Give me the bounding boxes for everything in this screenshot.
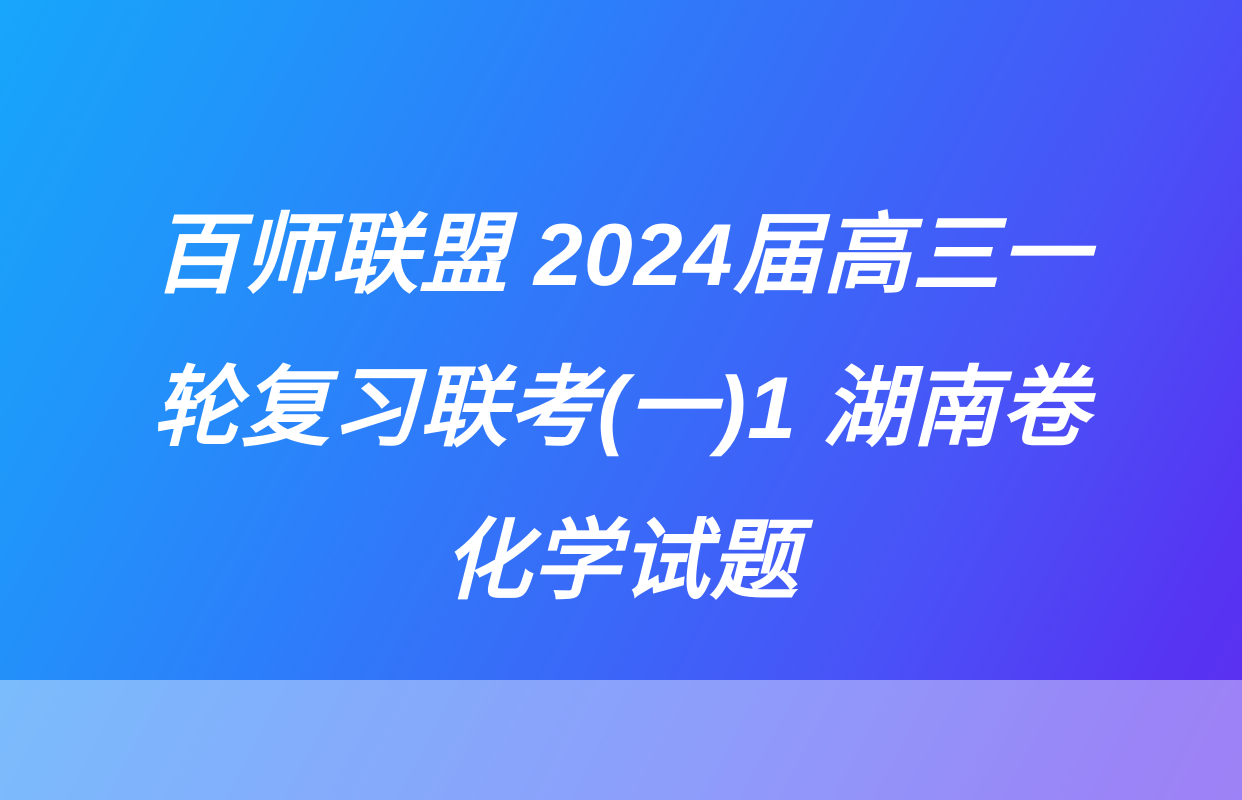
title-line-1: 百师联盟 2024届高三一 (60, 178, 1182, 331)
title-line-3: 化学试题 (60, 484, 1182, 637)
poster-canvas: 百师联盟 2024届高三一 轮复习联考(一)1 湖南卷 化学试题 答案解析网AP… (0, 0, 1242, 800)
title-line-2: 轮复习联考(一)1 湖南卷 (60, 331, 1182, 484)
page-title: 百师联盟 2024届高三一 轮复习联考(一)1 湖南卷 化学试题 (0, 178, 1242, 637)
footer-band: 答案解析网APP (0, 680, 1242, 800)
